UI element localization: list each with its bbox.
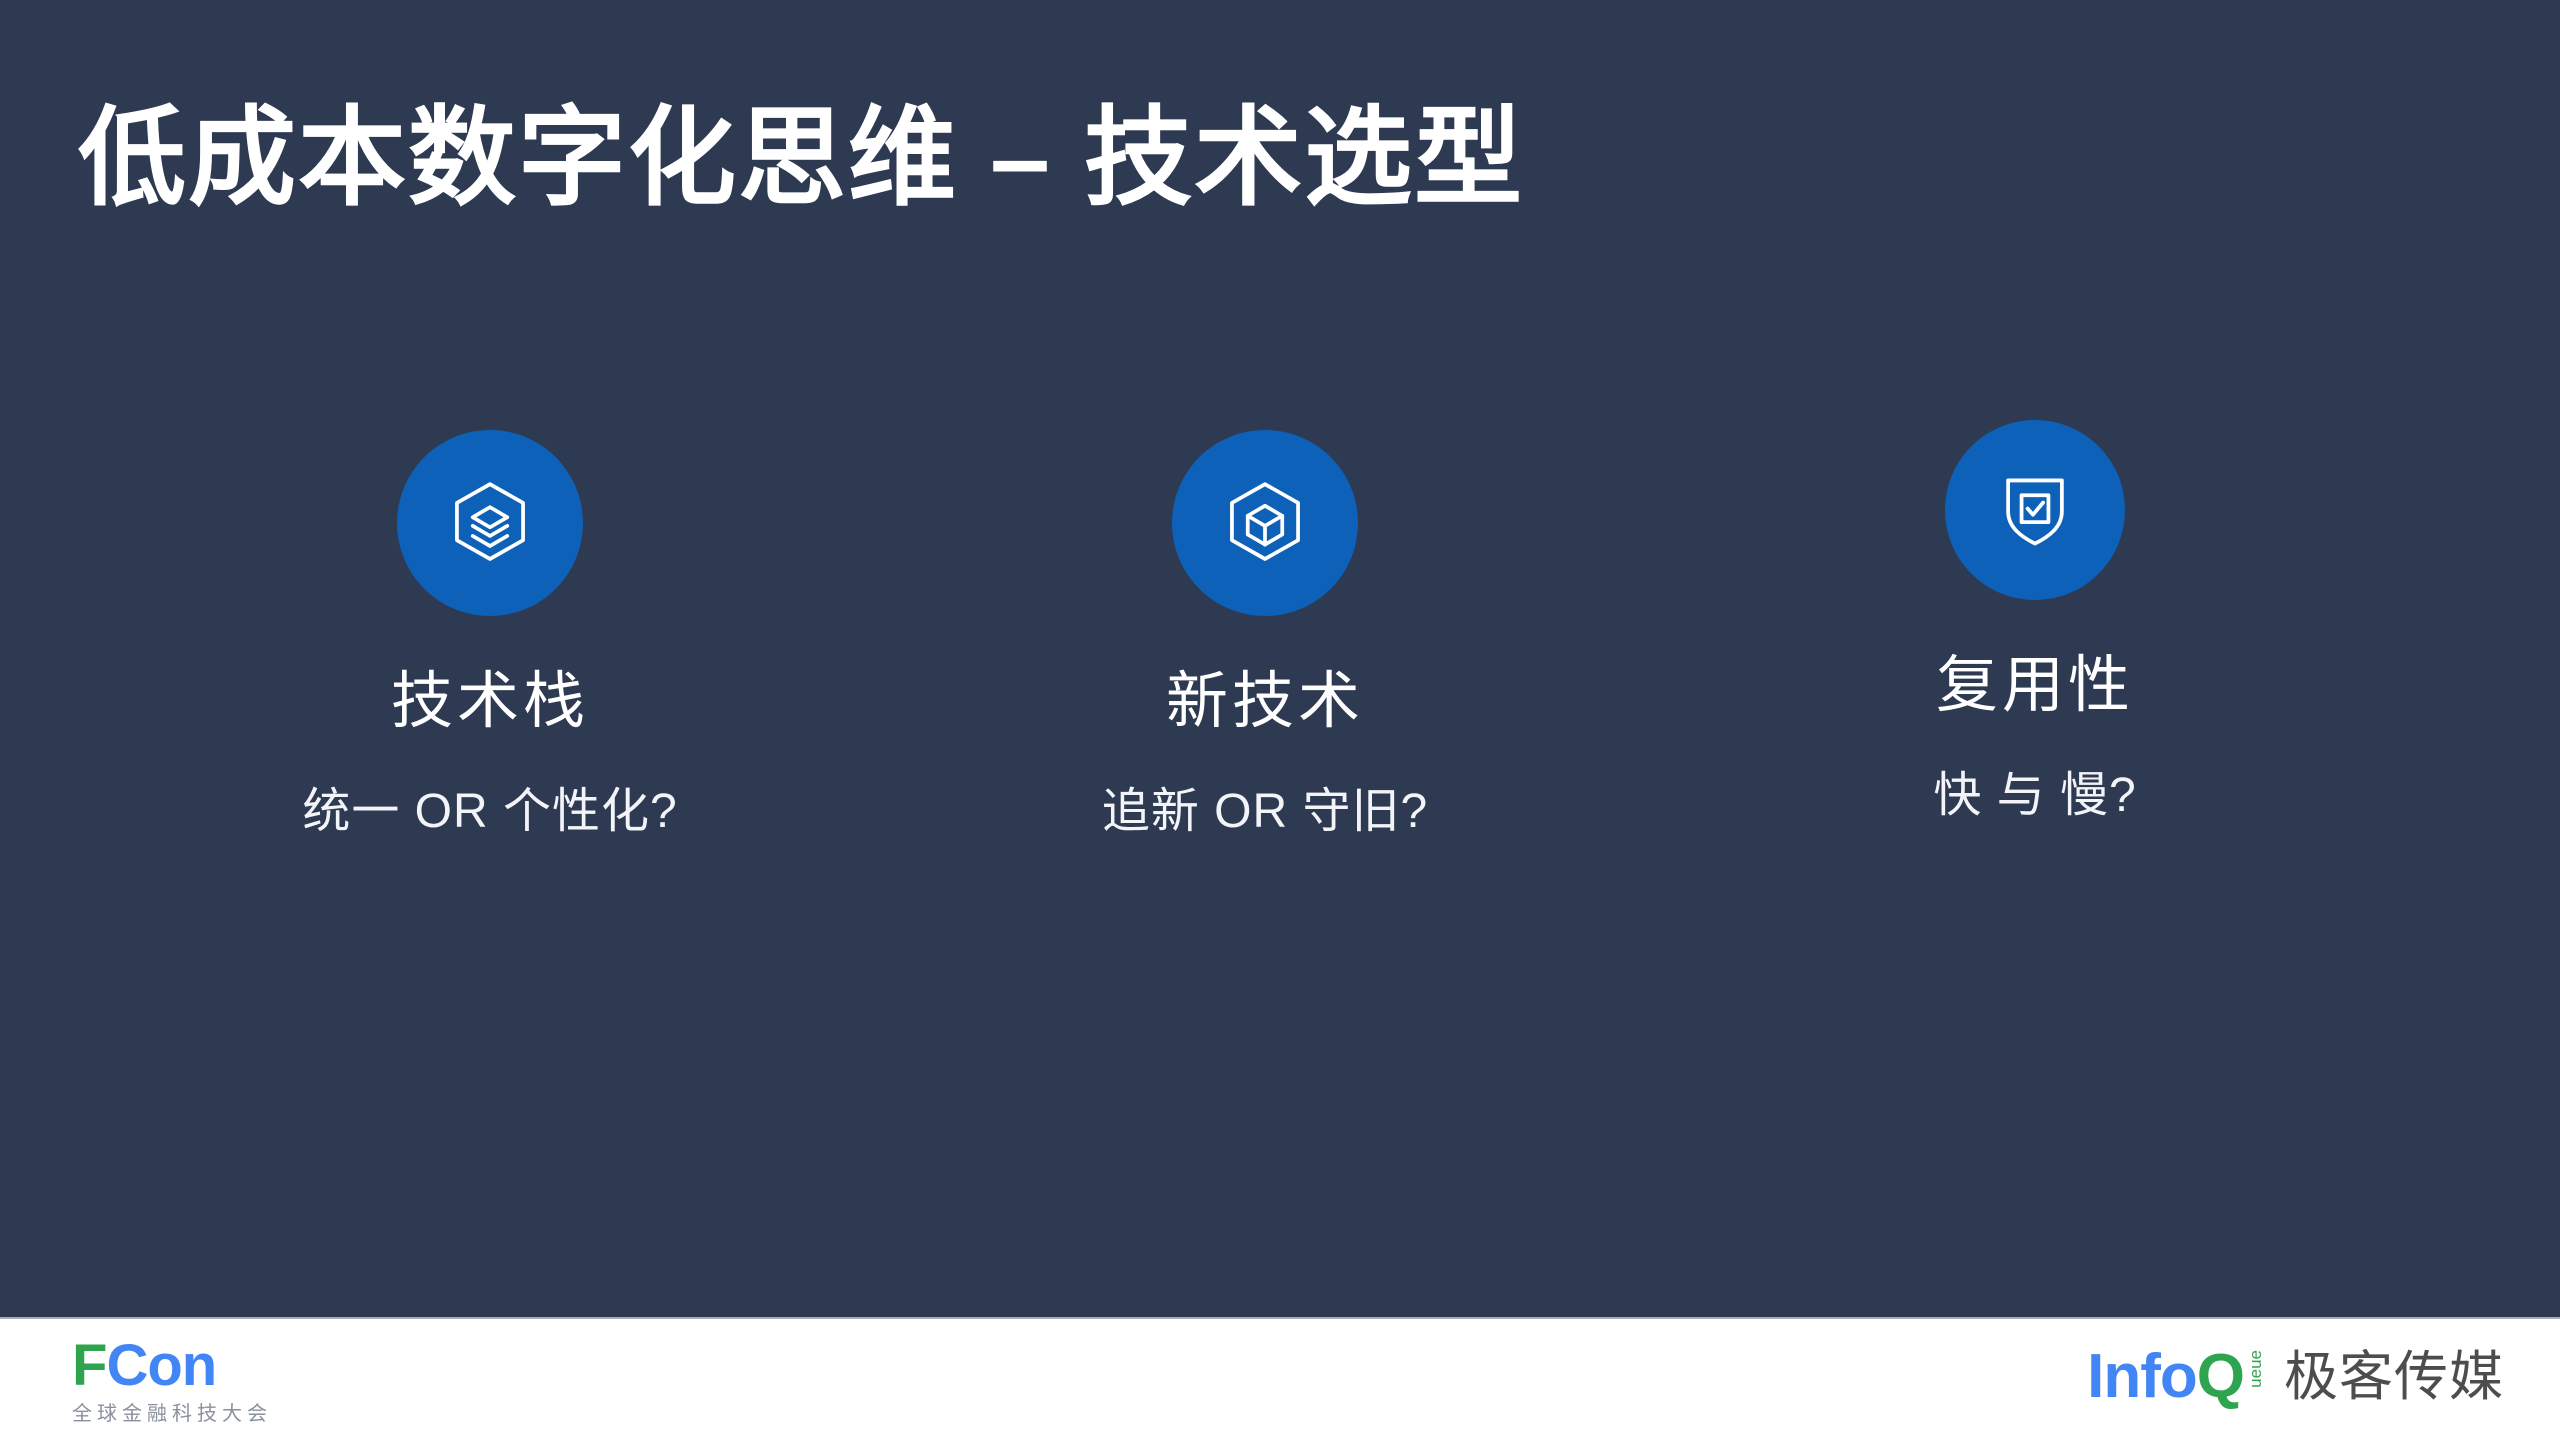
column-new-tech: 新技术 追新 OR 守旧?: [1005, 430, 1525, 839]
column-tech-stack: 技术栈 统一 OR 个性化?: [230, 430, 750, 839]
column-heading: 新技术: [1005, 668, 1525, 736]
presentation-slide: 低成本数字化思维 – 技术选型 技术栈 统一 OR 个性化?: [0, 0, 2560, 1440]
infoq-queue-mark: ueue: [2247, 1350, 2264, 1388]
icon-badge-tech-stack: [397, 430, 583, 616]
fcon-letter-f: F: [72, 1333, 106, 1398]
infoq-letter-q: Q: [2197, 1342, 2244, 1411]
infoq-chinese-name: 极客传媒: [2284, 1350, 2504, 1404]
fcon-wordmark: FCon: [72, 1337, 272, 1395]
footer-bar: FCon 全球金融科技大会 InfoQ ueue 极客传媒: [0, 1317, 2560, 1440]
cube-hexagon-icon: [1219, 477, 1311, 569]
icon-badge-reusability: [1945, 420, 2125, 600]
infoq-logo: InfoQ ueue 极客传媒: [2087, 1346, 2504, 1408]
icon-badge-new-tech: [1172, 430, 1358, 616]
column-heading: 技术栈: [230, 668, 750, 736]
shield-check-icon: [1992, 467, 2078, 553]
column-reusability: 复用性 快 与 慢?: [1775, 430, 2295, 823]
column-subtitle: 统一 OR 个性化?: [230, 784, 750, 839]
layers-hexagon-icon: [444, 477, 536, 569]
infoq-letters-info: Info: [2087, 1342, 2197, 1411]
infoq-wordmark: InfoQ: [2087, 1346, 2244, 1408]
column-subtitle: 追新 OR 守旧?: [1005, 784, 1525, 839]
fcon-logo: FCon 全球金融科技大会: [72, 1337, 272, 1424]
fcon-letters-con: Con: [106, 1333, 216, 1398]
column-subtitle: 快 与 慢?: [1775, 768, 2295, 823]
fcon-tagline: 全球金融科技大会: [72, 1404, 272, 1424]
column-heading: 复用性: [1775, 652, 2295, 720]
columns-container: 技术栈 统一 OR 个性化? 新技术 追新 OR 守旧?: [0, 430, 2560, 670]
page-title: 低成本数字化思维 – 技术选型: [78, 94, 2478, 221]
